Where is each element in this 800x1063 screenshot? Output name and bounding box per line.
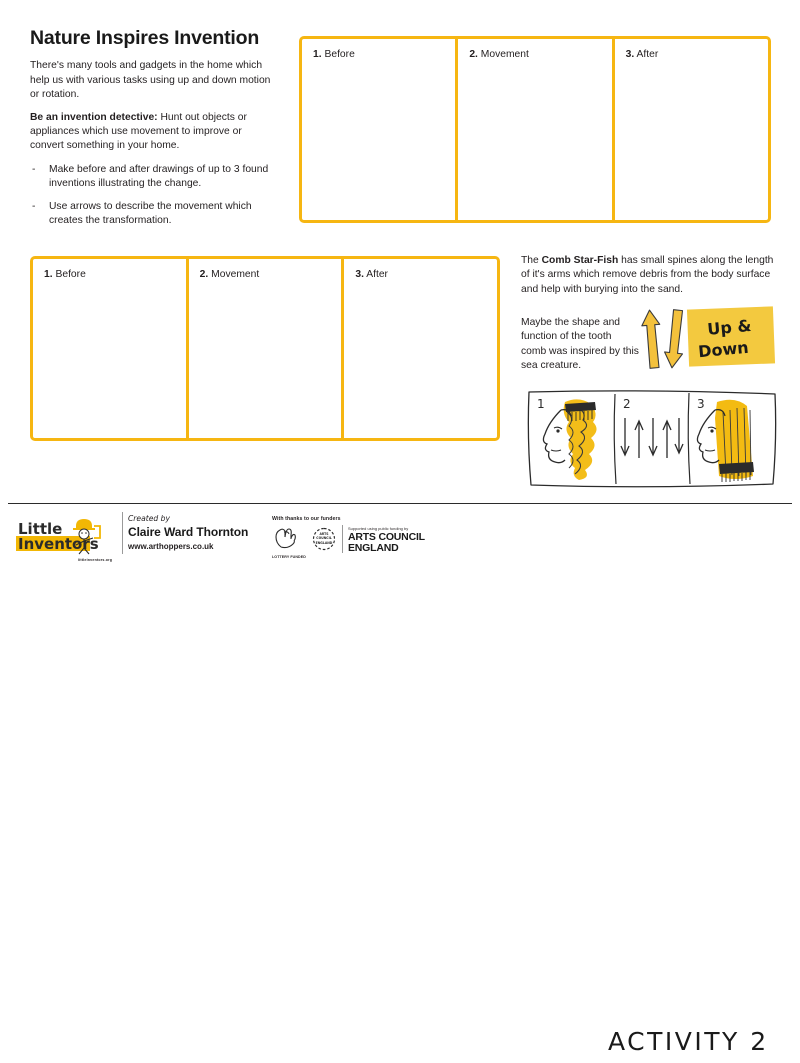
cell-title: After	[637, 49, 659, 60]
sticky-line-1-text: Up &	[707, 316, 753, 339]
drawing-box-bottom[interactable]: 1. Before 2. Movement 3. After	[30, 256, 500, 441]
worksheet-page: Nature Inspires Invention There's many t…	[0, 0, 800, 566]
list-item: - Use arrows to describe the movement wh…	[30, 200, 278, 228]
starfish-paragraph-1: The Comb Star-Fish has small spines alon…	[521, 254, 779, 297]
drawing-cell-before[interactable]: 1. Before	[302, 39, 458, 220]
starfish-info-block: The Comb Star-Fish has small spines alon…	[521, 254, 779, 307]
panel-1-number: 1	[537, 397, 545, 411]
cell-label: 2. Movement	[200, 269, 260, 280]
bullet-dash: -	[32, 200, 35, 214]
activity-label: ACTIVITY 2	[608, 1022, 778, 1058]
comb-illustration: 1 2 3	[521, 388, 783, 492]
funders-thanks-label: With thanks to our funders	[272, 516, 432, 522]
invention-detective-label: Be an invention detective:	[30, 112, 158, 123]
lottery-funded-logo: LOTTERY FUNDED	[272, 525, 306, 559]
little-inventors-logo[interactable]: Little Inventors littl	[16, 512, 120, 558]
cell-number: 1.	[313, 49, 322, 60]
crossed-fingers-icon	[276, 529, 295, 548]
author-name: Claire Ward Thornton	[128, 525, 278, 539]
up-arrow-icon	[641, 309, 664, 368]
cell-label: 2. Movement	[469, 49, 529, 60]
cell-number: 2.	[469, 49, 478, 60]
svg-text:COUNCIL: COUNCIL	[316, 536, 331, 540]
cell-number: 1.	[44, 269, 53, 280]
cell-number: 3.	[626, 49, 635, 60]
created-by-label: Created by	[128, 514, 278, 523]
drawing-box-top[interactable]: 1. Before 2. Movement 3. After	[299, 36, 771, 223]
footer: Little Inventors littl	[0, 506, 800, 566]
cell-label: 3. After	[355, 269, 388, 280]
arts-council-line-2: ENGLAND	[348, 543, 425, 554]
cell-label: 3. After	[626, 49, 659, 60]
arts-council-roundel: ARTS COUNCIL ENGLAND	[311, 525, 337, 557]
footer-divider-2	[342, 525, 343, 553]
funders-block: With thanks to our funders LOTTERY FUNDE…	[272, 516, 432, 559]
author-credit: Created by Claire Ward Thornton www.arth…	[128, 514, 278, 551]
cell-number: 3.	[355, 269, 364, 280]
comb-starfish-label: Comb Star-Fish	[542, 255, 619, 266]
activity-label-text: ACTIVITY 2	[608, 1027, 769, 1056]
intro-paragraph-1: There's many tools and gadgets in the ho…	[30, 59, 278, 102]
up-and-down-sticky-note: Up & Down	[687, 306, 775, 366]
drawing-cell-after[interactable]: 3. After	[344, 259, 497, 438]
cell-title: Movement	[481, 49, 529, 60]
list-item: - Make before and after drawings of up t…	[30, 163, 278, 191]
list-item-text: Use arrows to describe the movement whic…	[49, 201, 252, 226]
svg-text:ENGLAND: ENGLAND	[316, 541, 333, 545]
footer-divider	[8, 503, 792, 504]
intro-section: Nature Inspires Invention There's many t…	[30, 28, 278, 237]
drawing-cell-before[interactable]: 1. Before	[33, 259, 189, 438]
page-title: Nature Inspires Invention	[30, 28, 278, 49]
panel-2-number: 2	[623, 397, 631, 411]
movement-arrows	[640, 306, 688, 372]
drawing-cell-movement[interactable]: 2. Movement	[189, 259, 345, 438]
little-inventors-url: littleinventors.org	[78, 558, 112, 562]
footer-divider-1	[122, 512, 123, 554]
cell-label: 1. Before	[313, 49, 355, 60]
lottery-funded-caption: LOTTERY FUNDED	[272, 555, 306, 559]
arts-council-wordmark: Supported using public funding by ARTS C…	[348, 525, 425, 553]
cell-number: 2.	[200, 269, 209, 280]
cell-title: After	[366, 269, 388, 280]
starfish-paragraph-2: Maybe the shape and function of the toot…	[521, 316, 639, 374]
cell-title: Movement	[211, 269, 259, 280]
author-website[interactable]: www.arthoppers.co.uk	[128, 542, 278, 551]
list-item-text: Make before and after drawings of up to …	[49, 164, 268, 189]
instruction-list: - Make before and after drawings of up t…	[30, 163, 278, 229]
down-arrow-icon	[663, 309, 687, 369]
starfish-lead: The	[521, 255, 542, 266]
drawing-cell-movement[interactable]: 2. Movement	[458, 39, 614, 220]
bullet-dash: -	[32, 163, 35, 177]
intro-paragraph-2: Be an invention detective: Hunt out obje…	[30, 111, 278, 154]
cell-label: 1. Before	[44, 269, 86, 280]
drawing-cell-after[interactable]: 3. After	[615, 39, 768, 220]
starfish-inspiration-block: Maybe the shape and function of the toot…	[521, 316, 639, 374]
cell-title: Before	[55, 269, 85, 280]
cell-title: Before	[324, 49, 354, 60]
panel-3-number: 3	[697, 397, 705, 411]
sticky-line-2-text: Down	[697, 338, 749, 361]
